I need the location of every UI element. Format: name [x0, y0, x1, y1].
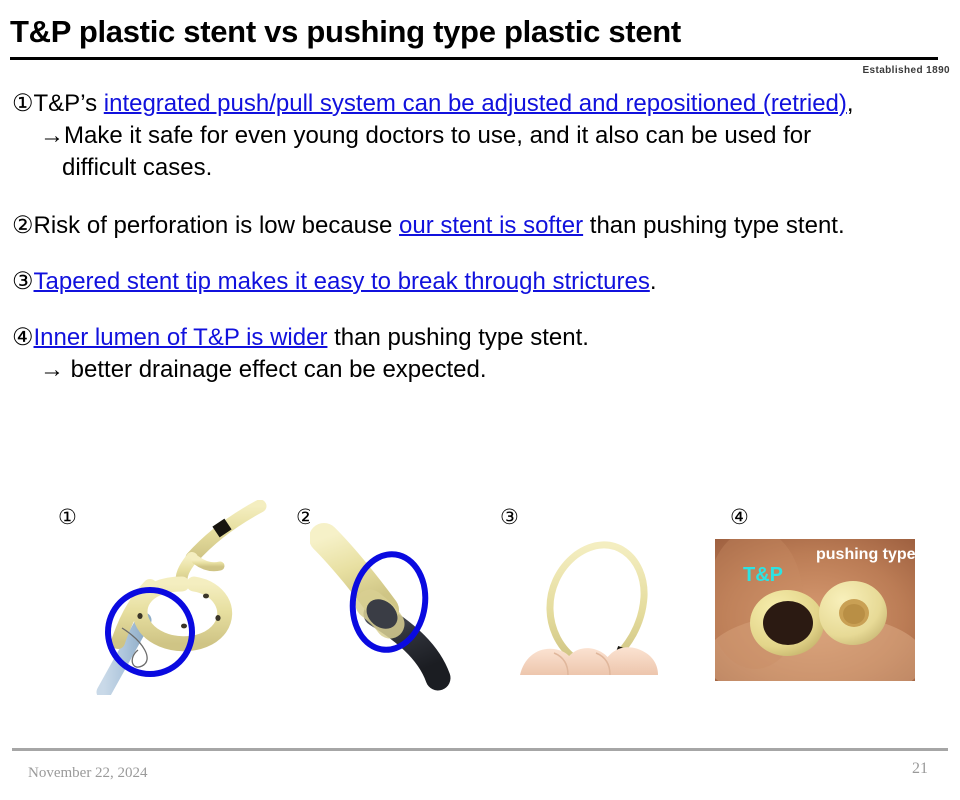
bullet-2-plain: Risk of perforation is low because [34, 212, 400, 239]
bullet-4-tail: than pushing type stent. [327, 324, 589, 351]
pigtail-stent-illustration [80, 500, 275, 695]
figure-1-label: ① [58, 507, 77, 528]
body-text: ①T&P’s integrated push/pull system can b… [12, 88, 958, 386]
page-title: T&P plastic stent vs pushing type plasti… [10, 14, 940, 50]
spacer-3 [12, 298, 958, 322]
established-mark: Established 1890 [862, 65, 950, 76]
bullet-point-4: ④Inner lumen of T&P is wider than pushin… [12, 322, 958, 386]
figure-4-label: ④ [730, 507, 749, 528]
spacer-1 [12, 184, 958, 210]
bullet-4-link[interactable]: Inner lumen of T&P is wider [34, 324, 328, 351]
bullet-4-subline-1: → better drainage effect can be expected… [12, 354, 958, 386]
bullet-point-1: ①T&P’s integrated push/pull system can b… [12, 88, 958, 184]
bullet-4-lead: ④Inner lumen of T&P is wider than pushin… [12, 322, 958, 354]
tapered-tip-illustration [310, 510, 495, 695]
bullet-point-2: ②Risk of perforation is low because our … [12, 210, 958, 242]
bullet-1-tail: , [847, 90, 854, 117]
bullet-1-subline-1: →Make it safe for even young doctors to … [12, 120, 958, 152]
figure-4-pushing-type-label: pushing type [816, 546, 915, 564]
bullet-1-lead: ①T&P’s integrated push/pull system can b… [12, 88, 958, 120]
bullet-1-plain: T&P’s [34, 90, 104, 117]
figure-2-photo [310, 510, 495, 695]
figure-1-photo [80, 500, 275, 695]
bullet-2-lead: ②Risk of perforation is low because our … [12, 210, 958, 242]
bullet-3-lead: ③Tapered stent tip makes it easy to brea… [12, 266, 958, 298]
bullet-2-link[interactable]: our stent is softer [399, 212, 583, 239]
figure-row: ① [0, 495, 960, 710]
bullet-1-link[interactable]: integrated push/pull system can be adjus… [104, 90, 847, 117]
spacer-2 [12, 242, 958, 266]
bullet-3-link[interactable]: Tapered stent tip makes it easy to break… [34, 268, 650, 295]
figure-4-photo: pushing type T&P [715, 539, 915, 681]
bullet-2-number: ② [12, 212, 34, 239]
footer-date: November 22, 2024 [28, 765, 148, 782]
footer-page-number: 21 [912, 760, 928, 778]
figure-4-tp-label: T&P [743, 564, 783, 587]
bullet-2-tail: than pushing type stent. [583, 212, 845, 239]
bullet-4-number: ④ [12, 324, 34, 351]
figure-3-label: ③ [500, 507, 519, 528]
figure-3-photo [520, 533, 680, 675]
slide-root: T&P plastic stent vs pushing type plasti… [0, 0, 960, 800]
footer-divider [12, 748, 948, 751]
title-underline [10, 57, 938, 60]
bullet-3-tail: . [650, 268, 657, 295]
bullet-1-number: ① [12, 90, 34, 117]
soft-stent-loop-illustration [520, 533, 680, 675]
bullet-3-number: ③ [12, 268, 34, 295]
bullet-1-subline-2: difficult cases. [12, 152, 958, 184]
bullet-point-3: ③Tapered stent tip makes it easy to brea… [12, 266, 958, 298]
